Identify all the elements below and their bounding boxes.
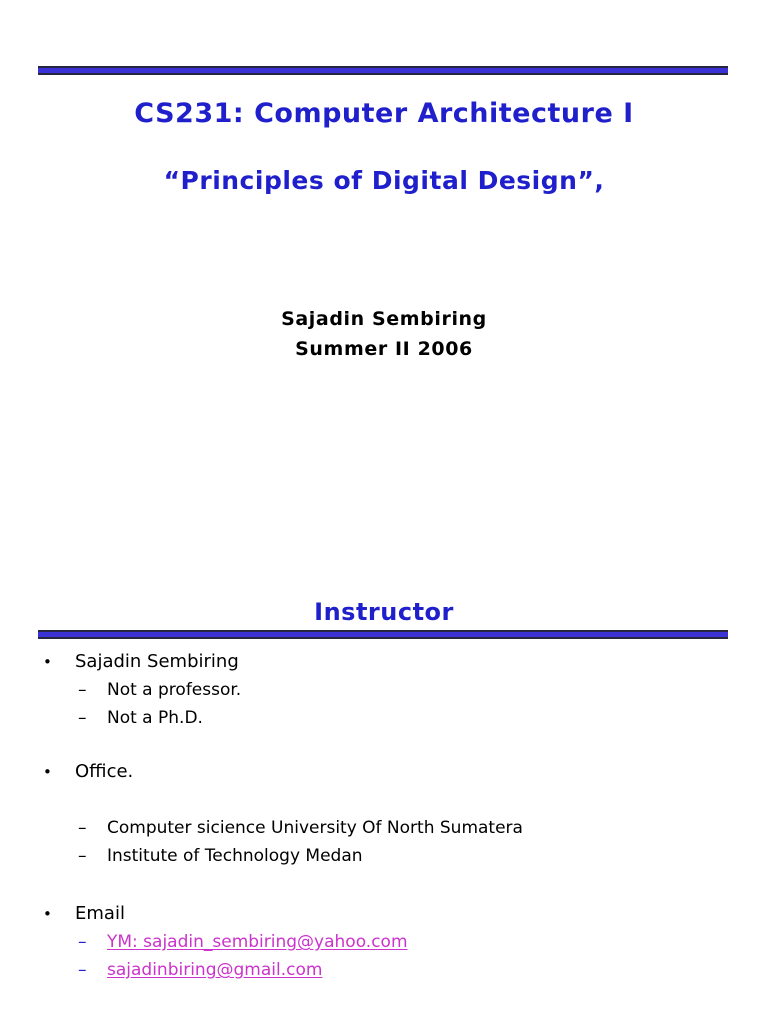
list-group: • Sajadin Sembiring – Not a professor. –… [0, 648, 768, 732]
bullet-icon: • [43, 648, 52, 676]
bullet-icon: • [43, 758, 52, 786]
section-heading-instructor: Instructor [0, 598, 768, 626]
list-item: – Not a professor. [0, 676, 768, 704]
list-item: – Not a Ph.D. [0, 704, 768, 732]
list-item: • Sajadin Sembiring [0, 648, 768, 676]
group-spacer [0, 732, 768, 758]
course-subtitle: “Principles of Digital Design”, [0, 130, 768, 195]
dash-icon: – [78, 928, 87, 956]
list-item-label: Not a Ph.D. [107, 708, 203, 728]
list-item-label: Not a professor. [107, 680, 241, 700]
list-item-label: Institute of Technology Medan [107, 846, 363, 866]
dash-icon: – [78, 814, 87, 842]
list-item: • Office. [0, 758, 768, 786]
dash-icon: – [78, 956, 87, 984]
list-item-label: Email [75, 903, 125, 924]
presenter-term: Summer II 2006 [0, 334, 768, 364]
email-link-yahoo[interactable]: YM: sajadin_sembiring@yahoo.com [107, 932, 408, 952]
slide-canvas: CS231: Computer Architecture I “Principl… [0, 0, 768, 1024]
list-item: – Institute of Technology Medan [0, 842, 768, 870]
list-item-label: Computer sicience University Of North Su… [107, 818, 523, 838]
top-divider-rule [38, 66, 728, 75]
list-item: – Computer sicience University Of North … [0, 814, 768, 842]
email-link-gmail[interactable]: sajadinbiring@gmail.com [107, 960, 322, 980]
inner-spacer [0, 786, 768, 814]
list-item: • Email [0, 900, 768, 928]
group-spacer [0, 870, 768, 900]
bottom-divider-rule [38, 630, 728, 639]
list-item-email-gmail[interactable]: – sajadinbiring@gmail.com [0, 956, 768, 984]
list-item-label: Office. [75, 761, 133, 782]
list-item-email-yahoo[interactable]: – YM: sajadin_sembiring@yahoo.com [0, 928, 768, 956]
instructor-details-list: • Sajadin Sembiring – Not a professor. –… [0, 648, 768, 984]
dash-icon: – [78, 676, 87, 704]
course-title: CS231: Computer Architecture I [0, 98, 768, 130]
list-group: • Office. – Computer sicience University… [0, 758, 768, 870]
list-group: • Email – YM: sajadin_sembiring@yahoo.co… [0, 900, 768, 984]
list-item-label: Sajadin Sembiring [75, 651, 239, 672]
dash-icon: – [78, 842, 87, 870]
bullet-icon: • [43, 900, 52, 928]
title-block: CS231: Computer Architecture I “Principl… [0, 98, 768, 195]
presenter-name: Sajadin Sembiring [0, 304, 768, 334]
dash-icon: – [78, 704, 87, 732]
presenter-block: Sajadin Sembiring Summer II 2006 [0, 304, 768, 364]
